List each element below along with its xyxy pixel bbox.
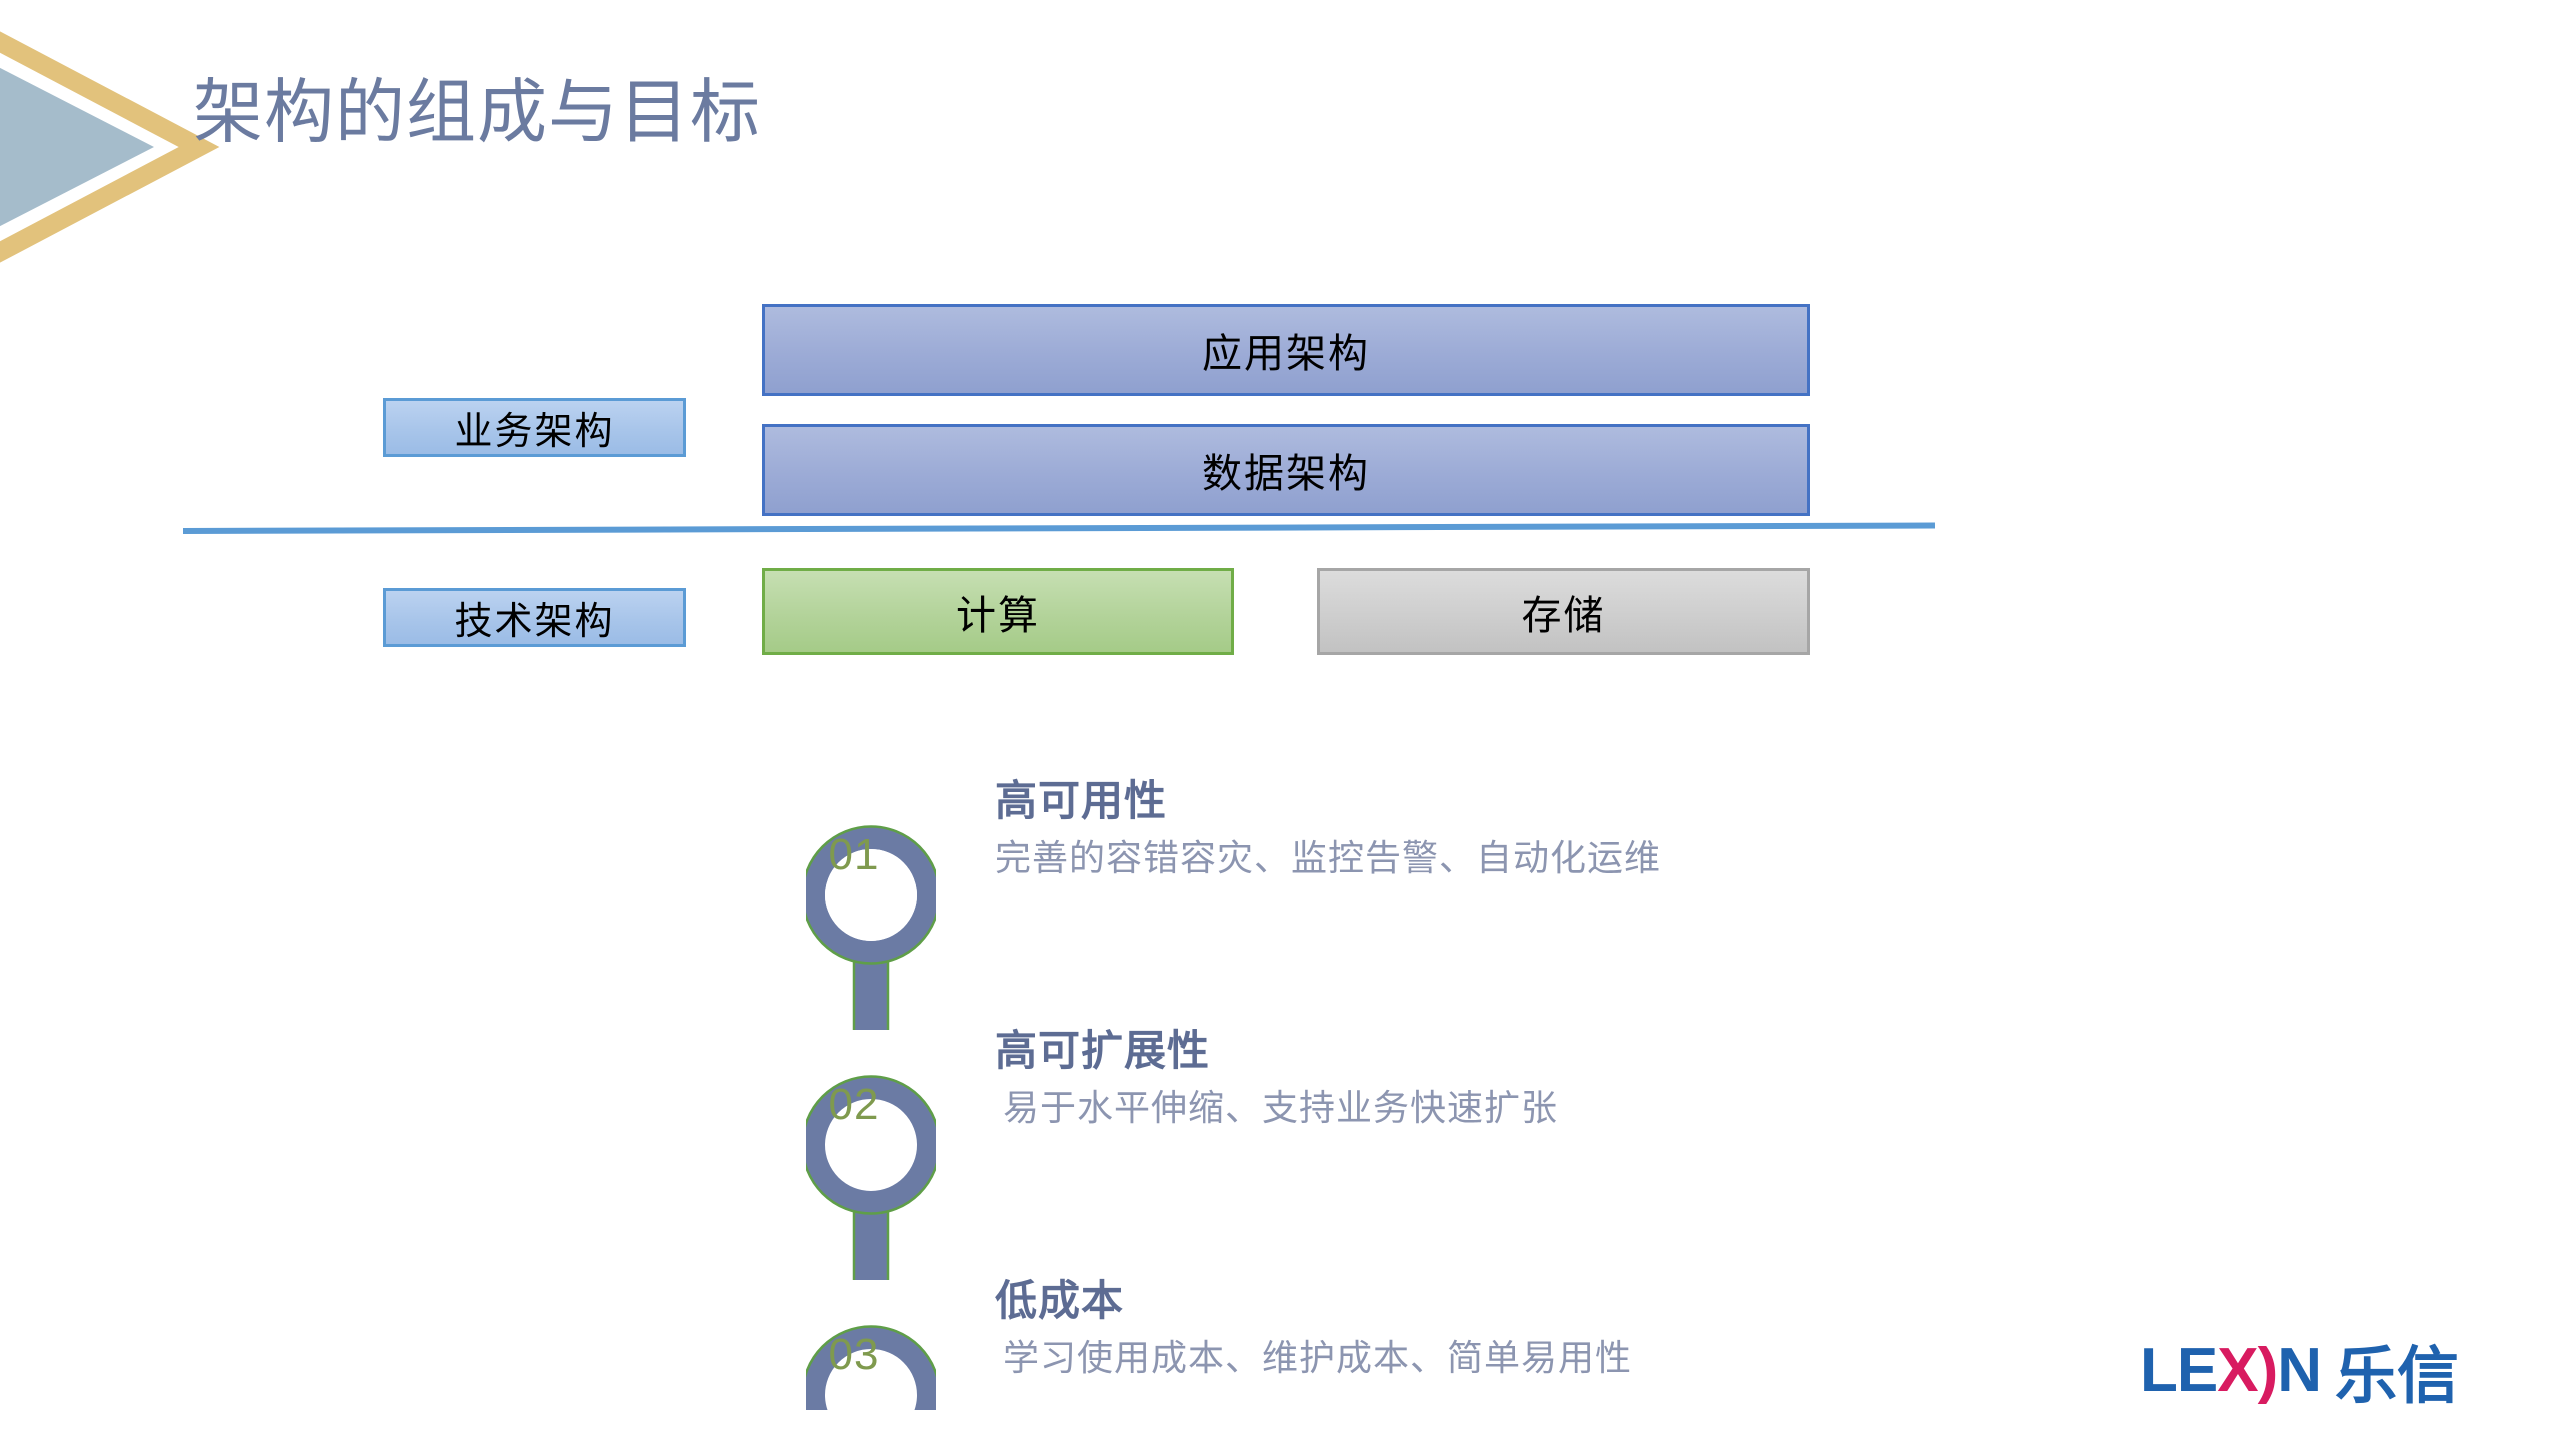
feature-description: 完善的容错容灾、监控告警、自动化运维 <box>995 834 1661 883</box>
feature-title: 低成本 <box>995 1275 1632 1328</box>
lexin-logo: LE X) N 乐信 <box>2140 1330 2530 1410</box>
feature-title: 高可用性 <box>995 775 1661 828</box>
feature-item-02: 高可扩展性 易于水平伸缩、支持业务快速扩张 <box>810 1035 1558 1132</box>
logo-text-n: N <box>2277 1335 2321 1406</box>
feature-list: 高可用性 完善的容错容灾、监控告警、自动化运维 高可扩展性 易于水平伸缩、支持业… <box>0 0 2559 1439</box>
logo-text-chinese: 乐信 <box>2335 1325 2459 1415</box>
logo-text-le: LE <box>2140 1335 2217 1406</box>
feature-description: 易于水平伸缩、支持业务快速扩张 <box>995 1084 1558 1133</box>
feature-item-01: 高可用性 完善的容错容灾、监控告警、自动化运维 <box>810 785 1661 882</box>
slide-canvas: 架构的组成与目标 应用架构 数据架构 业务架构 技术架构 计算 存储 01 02… <box>0 0 2559 1439</box>
logo-text-x: X) <box>2217 1335 2277 1406</box>
feature-title: 高可扩展性 <box>995 1025 1558 1078</box>
feature-item-03: 低成本 学习使用成本、维护成本、简单易用性 <box>810 1285 1632 1382</box>
feature-description: 学习使用成本、维护成本、简单易用性 <box>995 1334 1632 1383</box>
